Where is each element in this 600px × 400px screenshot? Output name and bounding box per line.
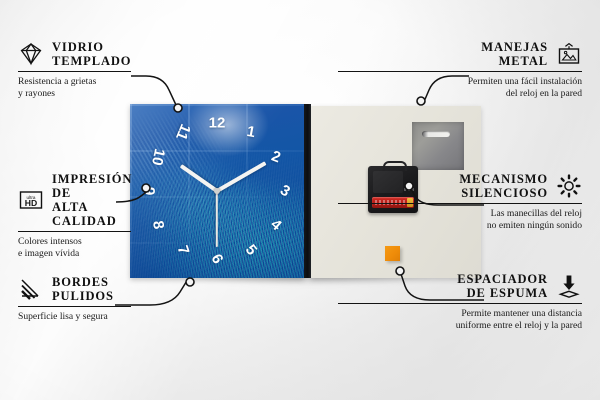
feature-mecanismo-silencioso[interactable]: MECANISMO SILENCIOSO Las manecillas del …	[338, 172, 582, 232]
svg-text:HD: HD	[25, 198, 37, 208]
feature-title: ESPACIADOR DE ESPUMA	[457, 272, 548, 300]
feature-title: BORDES PULIDOS	[52, 275, 114, 303]
feature-bordes-pulidos[interactable]: BORDES PULIDOS Superficie lisa y segura	[18, 275, 131, 323]
feature-title: MECANISMO SILENCIOSO	[459, 172, 548, 200]
feature-title: MANEJAS METAL	[481, 40, 548, 68]
title-underline	[338, 71, 582, 72]
feature-title: VIDRIO TEMPLADO	[52, 40, 131, 68]
tempered-glass-edge	[304, 104, 311, 278]
gear-icon	[556, 173, 582, 199]
metal-hanger-plate	[412, 122, 464, 170]
feature-subtitle: Superficie lisa y segura	[18, 311, 131, 323]
feature-subtitle: Las manecillas del reloj no emiten ningú…	[338, 208, 582, 231]
foam-spacer-arrow-icon	[556, 273, 582, 299]
title-underline	[18, 306, 131, 307]
clock-center-cap	[214, 188, 220, 194]
feature-subtitle: Colores intensos e imagen vívida	[18, 236, 131, 259]
clock-numeral-12: 12	[209, 116, 226, 131]
title-underline	[18, 231, 131, 232]
feature-title: IMPRESIÓN DE ALTA CALIDAD	[52, 172, 132, 228]
feature-manejas-metal[interactable]: MANEJAS METAL Permiten una fácil instala…	[338, 40, 582, 100]
title-underline	[18, 71, 131, 72]
title-underline	[338, 303, 582, 304]
ultra-hd-icon: ultra HD	[18, 187, 44, 213]
hanger-keyhole-slot	[422, 131, 450, 137]
feature-impresion-alta-calidad[interactable]: ultra HD IMPRESIÓN DE ALTA CALIDAD Color…	[18, 172, 131, 260]
polished-edges-icon	[18, 276, 44, 302]
foam-spacer	[385, 246, 400, 261]
clock-numeral-10: 10	[149, 147, 167, 166]
feature-vidrio-templado[interactable]: VIDRIO TEMPLADO Resistencia a grietas y …	[18, 40, 131, 100]
feature-subtitle: Permiten una fácil instalación del reloj…	[338, 76, 582, 99]
clock-numeral-9: 9	[141, 187, 156, 196]
title-underline	[338, 203, 582, 204]
picture-hanger-icon	[556, 41, 582, 67]
diamond-icon	[18, 41, 44, 67]
clock-second-hand	[216, 191, 218, 247]
clock-front-face: 121234567891011	[130, 104, 304, 278]
feature-subtitle: Resistencia a grietas y rayones	[18, 76, 131, 99]
connector-vidrio-templado	[131, 76, 176, 105]
feature-subtitle: Permite mantener una distancia uniforme …	[338, 308, 582, 331]
mechanism-hanging-tab	[383, 161, 407, 171]
feature-espaciador-espuma[interactable]: ESPACIADOR DE ESPUMA Permite mantener un…	[338, 272, 582, 332]
infographic-canvas: 121234567891011	[0, 0, 600, 400]
